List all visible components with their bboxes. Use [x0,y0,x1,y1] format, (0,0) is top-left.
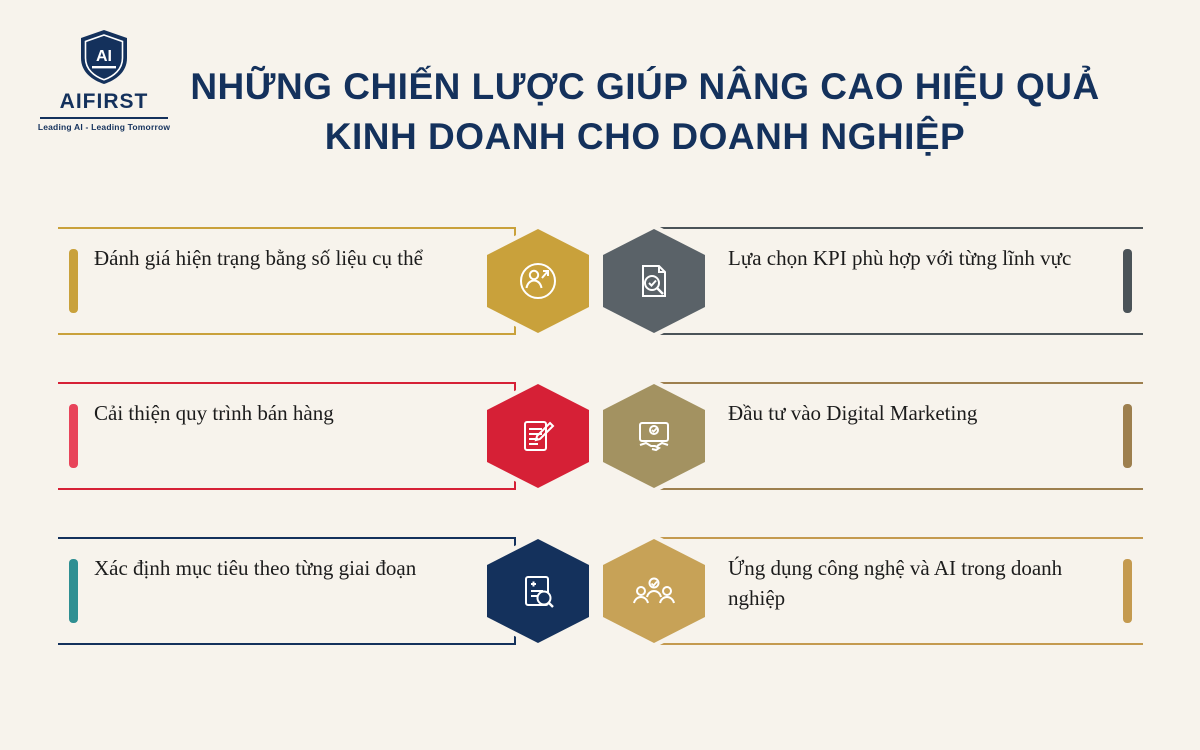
document-pencil-icon [482,379,594,493]
brand-tagline: Leading AI - Leading Tomorrow [34,122,174,132]
item-accent-cap [69,404,78,468]
list-item[interactable]: Đánh giá hiện trạng bằng số liệu cụ thể [58,205,578,360]
document-magnifier-icon [598,224,710,338]
checklist-search-icon [482,534,594,648]
item-hex-badge [598,534,710,648]
brand-divider [40,117,168,119]
list-item[interactable]: Lựa chọn KPI phù hợp với từng lĩnh vực [598,205,1143,360]
list-item[interactable]: Cải thiện quy trình bán hàng [58,360,578,515]
item-hex-badge [482,224,594,338]
list-item-label: Cải thiện quy trình bán hàng [94,398,474,428]
list-item[interactable]: Xác định mục tiêu theo từng giai đoạn [58,515,578,670]
item-accent-cap [1123,404,1132,468]
list-item-label: Đầu tư vào Digital Marketing [728,398,1118,428]
item-accent-cap [69,559,78,623]
ai-shield-logo-icon: AI [78,28,130,86]
left-strategy-column: Đánh giá hiện trạng bằng số liệu cụ thể … [58,205,578,670]
team-check-icon [598,534,710,648]
list-item-label: Ứng dụng công nghệ và AI trong doanh ngh… [728,553,1118,614]
item-hex-badge [598,224,710,338]
list-item-label: Lựa chọn KPI phù hợp với từng lĩnh vực [728,243,1118,273]
user-chart-icon [482,224,594,338]
right-strategy-column: Lựa chọn KPI phù hợp với từng lĩnh vực Đ… [598,205,1143,670]
item-hex-badge [482,379,594,493]
item-accent-cap [1123,249,1132,313]
brand-wordmark: AIFIRST [34,90,174,114]
item-hex-badge [598,379,710,493]
svg-text:AI: AI [96,48,112,65]
list-item-label: Xác định mục tiêu theo từng giai đoạn [94,553,474,583]
list-item-label: Đánh giá hiện trạng bằng số liệu cụ thể [94,243,474,273]
brand-logo: AI AIFIRST Leading AI - Leading Tomorrow [34,28,174,132]
item-accent-cap [1123,559,1132,623]
item-accent-cap [69,249,78,313]
item-hex-badge [482,534,594,648]
list-item[interactable]: Ứng dụng công nghệ và AI trong doanh ngh… [598,515,1143,670]
handshake-icon [598,379,710,493]
page-title: NHỮNG CHIẾN LƯỢC GIÚP NÂNG CAO HIỆU QUẢ … [190,62,1100,163]
list-item[interactable]: Đầu tư vào Digital Marketing [598,360,1143,515]
